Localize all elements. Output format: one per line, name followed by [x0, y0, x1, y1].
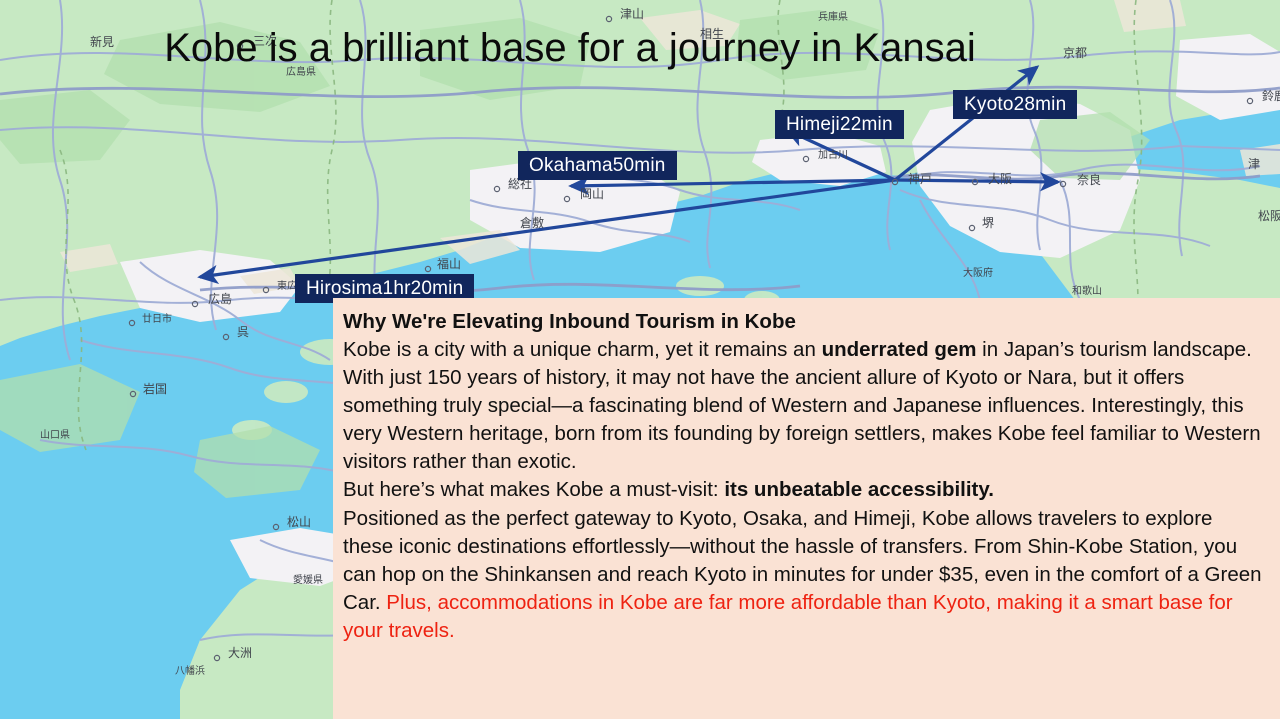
map-city-label: 神戸 [908, 172, 932, 186]
label-himeji-22min[interactable]: Himeji22min [775, 110, 904, 139]
map-city-label: 兵庫県 [818, 10, 848, 23]
map-city-label: 広島 [208, 291, 232, 306]
map-city-label: 愛媛県 [293, 573, 323, 586]
map-city-label: 鈴鹿 [1262, 88, 1280, 103]
label-okahama-50min[interactable]: Okahama50min [518, 151, 677, 180]
p2-bold-accessibility: its unbeatable accessibility. [724, 478, 994, 501]
map-city-label: 岡山 [580, 187, 604, 201]
map-city-label: 岩国 [143, 381, 167, 396]
map-city-label: 加古川 [818, 148, 848, 161]
page-title: Kobe is a brilliant base for a journey i… [0, 26, 1140, 70]
panel-paragraph-1: Kobe is a city with a unique charm, yet … [343, 336, 1266, 476]
map-city-label: 松山 [287, 515, 311, 529]
map-city-label: 松阪 [1258, 209, 1280, 223]
panel-paragraph-2: But here’s what makes Kobe a must-visit:… [343, 476, 1266, 504]
map-city-label: 堺 [982, 216, 994, 230]
map-city-label: 津 [1248, 157, 1260, 171]
map-city-label: 福山 [437, 256, 461, 271]
p3-highlight-red: Plus, accommodations in Kobe are far mor… [343, 591, 1233, 642]
p1-bold-underrated-gem: underrated gem [822, 338, 977, 361]
map-city-label: 呉 [237, 325, 249, 339]
map-city-label: 大阪府 [963, 266, 993, 279]
panel-heading: Why We're Elevating Inbound Tourism in K… [343, 308, 1266, 336]
map-city-label: 大阪 [988, 172, 1012, 186]
map-city-label: 津山 [620, 7, 644, 21]
map-city-label: 山口県 [40, 429, 70, 441]
p1-part-a: Kobe is a city with a unique charm, yet … [343, 338, 822, 361]
slide-canvas: 津山兵庫県相生京都三次鈴鹿新見広島県総社加古川神戸大阪奈良津岡山堺松阪倉敷福山大… [0, 0, 1280, 719]
map-city-label: 奈良 [1077, 172, 1101, 187]
map-city-label: 和歌山 [1072, 284, 1102, 297]
panel-paragraph-3: Positioned as the perfect gateway to Kyo… [343, 505, 1266, 645]
map-city-label: 倉敷 [520, 215, 544, 230]
label-kyoto-28min[interactable]: Kyoto28min [953, 90, 1077, 119]
map-city-label: 八幡浜 [175, 664, 205, 677]
map-city-label: 廿日市 [142, 312, 172, 325]
p2-part-a: But here’s what makes Kobe a must-visit: [343, 478, 724, 501]
text-panel: Why We're Elevating Inbound Tourism in K… [333, 298, 1280, 719]
map-city-label: 大洲 [228, 646, 252, 660]
